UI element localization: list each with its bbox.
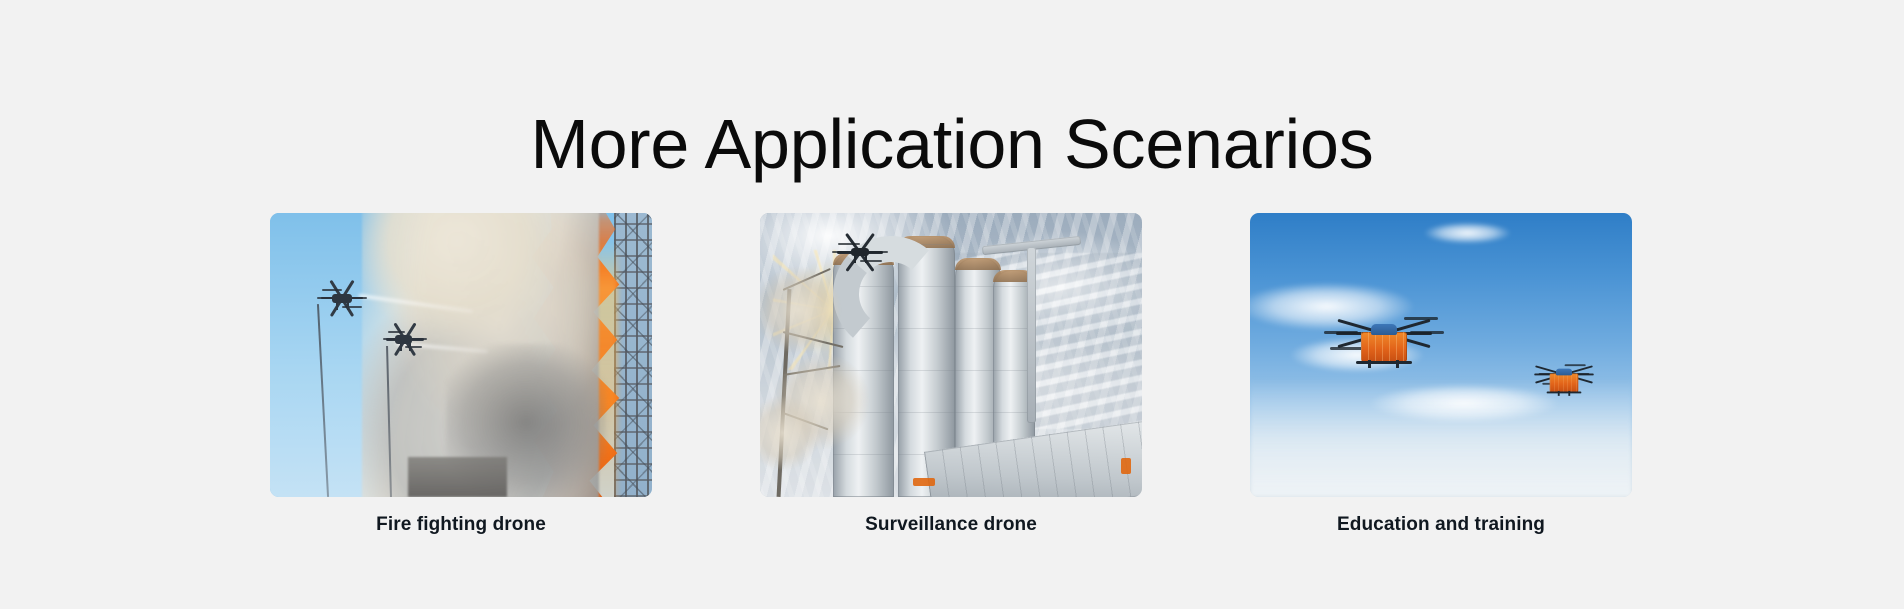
scaffolding-structure bbox=[614, 213, 652, 497]
drone-rotor bbox=[838, 243, 860, 245]
drone-leg bbox=[854, 255, 856, 263]
drone-skid-leg bbox=[1568, 391, 1570, 396]
application-scenarios-section: More Application Scenarios bbox=[0, 0, 1904, 609]
scenario-cards-row: Fire fighting drone bbox=[270, 213, 1632, 537]
orange-marker bbox=[913, 478, 935, 486]
drone-leg bbox=[347, 301, 349, 310]
delivery-drone-small bbox=[1544, 372, 1582, 391]
fire-fighting-drone-image[interactable] bbox=[270, 213, 652, 497]
tree-foliage bbox=[760, 267, 841, 353]
scenario-caption-education-and-training: Education and training bbox=[1250, 514, 1632, 537]
scenario-card-fire-fighting-drone[interactable]: Fire fighting drone bbox=[270, 213, 652, 537]
orange-marker bbox=[1121, 458, 1131, 474]
building-base bbox=[408, 457, 507, 497]
fire-scene bbox=[270, 213, 652, 497]
drone-rotor bbox=[322, 289, 342, 291]
drone-rotor bbox=[860, 260, 882, 262]
firefighting-drone-upper bbox=[320, 287, 364, 309]
drone-propeller bbox=[1324, 331, 1358, 334]
drone-canopy bbox=[1556, 369, 1572, 376]
horizon-haze bbox=[1250, 378, 1632, 497]
drone-body bbox=[332, 294, 352, 303]
drone-canopy bbox=[1371, 324, 1397, 335]
scenario-card-surveillance-drone[interactable]: Surveillance drone bbox=[760, 213, 1142, 537]
drone-leg bbox=[336, 301, 338, 310]
bare-tree bbox=[760, 230, 867, 497]
drone-landing-skid bbox=[1356, 361, 1412, 364]
drone-payload-body bbox=[1549, 374, 1578, 393]
scenario-card-education-and-training[interactable]: Education and training bbox=[1250, 213, 1632, 537]
drone-skid-leg bbox=[1368, 360, 1371, 368]
drone-rotor bbox=[405, 346, 422, 348]
drone-payload-body bbox=[1361, 332, 1407, 362]
drone-skid-leg bbox=[1396, 360, 1399, 368]
cloud-wisp bbox=[1418, 219, 1517, 247]
drone-leg bbox=[400, 342, 402, 351]
drone-propeller bbox=[1404, 317, 1438, 320]
surveillance-scene bbox=[760, 213, 1142, 497]
beam-support-column bbox=[1027, 247, 1036, 423]
surveillance-drone-image[interactable] bbox=[760, 213, 1142, 497]
drone-rotor bbox=[342, 306, 362, 308]
education-and-training-image[interactable] bbox=[1250, 213, 1632, 497]
silo-cap bbox=[955, 258, 1001, 270]
drone-skid-leg bbox=[1558, 391, 1560, 396]
page-title: More Application Scenarios bbox=[0, 109, 1904, 179]
scenario-caption-fire-fighting-drone: Fire fighting drone bbox=[270, 514, 652, 537]
drone-propeller bbox=[1330, 347, 1364, 350]
scenario-caption-surveillance-drone: Surveillance drone bbox=[760, 514, 1142, 537]
education-scene bbox=[1250, 213, 1632, 497]
delivery-drone-large bbox=[1334, 321, 1434, 367]
scaffolding-cross-braces bbox=[614, 213, 652, 497]
drone-leg bbox=[865, 255, 867, 263]
firefighting-drone-lower bbox=[385, 329, 425, 349]
drone-propeller bbox=[1410, 331, 1444, 334]
drone-leg bbox=[409, 342, 411, 351]
surveillance-drone bbox=[836, 241, 884, 263]
